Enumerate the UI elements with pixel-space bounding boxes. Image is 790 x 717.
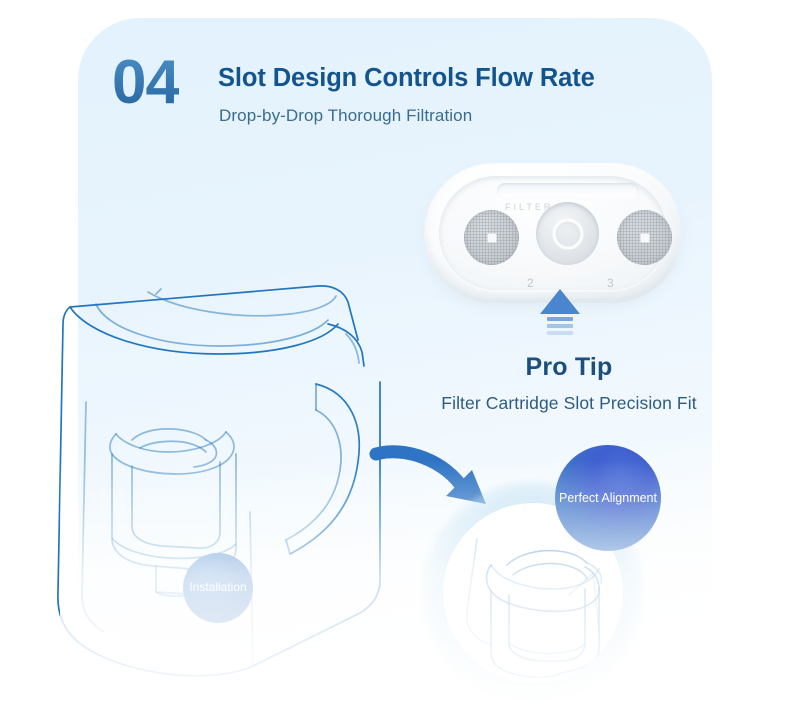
arrow-up-trail-bar [547, 324, 573, 328]
filter-cartridge-lid: FILTER 2 3 [424, 163, 682, 305]
device-mark-right: 3 [607, 276, 614, 290]
arrow-up-icon [529, 289, 591, 339]
arrow-up-trail-bar [547, 331, 573, 335]
device-inner-recess: FILTER 2 3 [439, 176, 667, 290]
device-mark-left: 2 [527, 276, 534, 290]
arrow-up-trail-bar [547, 317, 573, 321]
device-top-groove [497, 183, 639, 199]
pro-tip-title: Pro Tip [424, 353, 714, 382]
page-subtitle: Drop-by-Drop Thorough Filtration [219, 106, 472, 126]
page-title: Slot Design Controls Flow Rate [218, 64, 595, 93]
step-number: 04 [112, 52, 179, 114]
slot-inner-ring [552, 218, 583, 249]
right-mesh-screen-icon [617, 210, 672, 265]
bottom-fade-overlay [60, 460, 750, 717]
center-slot-hub [536, 202, 599, 265]
left-mesh-screen-icon [464, 210, 519, 265]
pro-tip-block: Pro Tip Filter Cartridge Slot Precision … [424, 353, 714, 414]
slide-root: 04 Slot Design Controls Flow Rate Drop-b… [0, 0, 790, 717]
pro-tip-subtitle: Filter Cartridge Slot Precision Fit [424, 393, 714, 414]
arrow-up-head [540, 289, 580, 314]
